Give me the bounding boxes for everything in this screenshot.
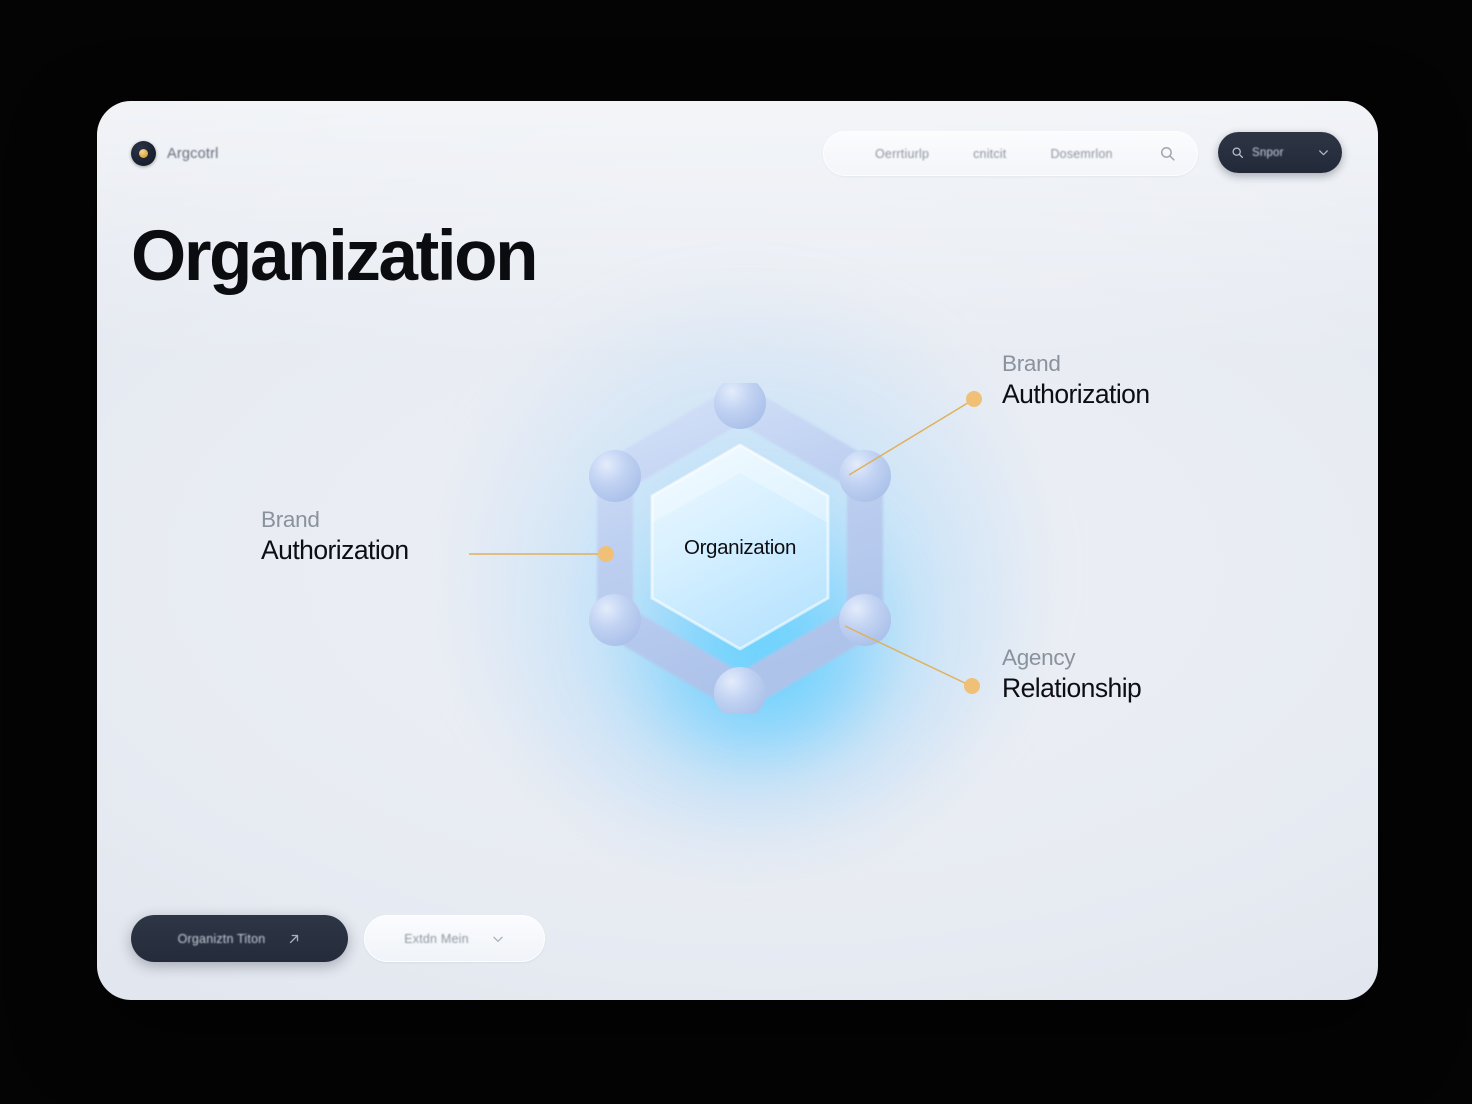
annotation-brand-authorization-left: Brand Authorization [261,508,409,564]
app-card: Argcotrl Oerrtiurlp cnitcit Dosemrlon [97,101,1378,1000]
footer-actions: Organiztn Titon Extdn Mein [131,915,545,962]
annotation-kicker: Brand [1002,352,1150,376]
brand-logo[interactable]: Argcotrl [131,141,219,166]
page-root: Argcotrl Oerrtiurlp cnitcit Dosemrlon [0,0,1472,1104]
support-button-label: Snpor [1252,147,1309,159]
primary-action-label: Organiztn Titon [178,932,266,946]
annotation-brand-authorization-top: Brand Authorization [1002,352,1150,408]
chevron-down-icon [1317,146,1330,159]
primary-action-button[interactable]: Organiztn Titon [131,915,348,962]
connector-dot-left [598,546,614,562]
annotation-agency-relationship: Agency Relationship [1002,646,1141,702]
primary-nav: Oerrtiurlp cnitcit Dosemrlon [823,131,1198,176]
annotation-kicker: Agency [1002,646,1141,670]
nav-item-1[interactable]: Oerrtiurlp [875,147,929,161]
arrow-up-right-icon [287,932,301,946]
connector-dot-bottom-right [964,678,980,694]
logo-pip-icon [139,149,148,158]
annotation-kicker: Brand [261,508,409,532]
connector-line-bottom-right [845,626,969,685]
annotation-value: Relationship [1002,675,1141,703]
connector-dot-top-right [966,391,982,407]
secondary-action-label: Extdn Mein [404,932,469,946]
app-header: Argcotrl Oerrtiurlp cnitcit Dosemrlon [97,101,1378,206]
chevron-down-icon [491,932,505,946]
annotation-value: Authorization [1002,381,1150,409]
brand-name-label: Argcotrl [167,146,219,162]
logo-mark-icon [131,141,156,166]
support-button[interactable]: Snpor [1218,132,1342,173]
search-icon [1231,146,1244,159]
search-icon[interactable] [1159,145,1176,162]
connector-line-top-right [849,401,971,475]
secondary-action-button[interactable]: Extdn Mein [364,915,545,962]
annotation-value: Authorization [261,537,409,565]
nav-item-3[interactable]: Dosemrlon [1050,147,1112,161]
nav-item-2[interactable]: cnitcit [973,147,1006,161]
